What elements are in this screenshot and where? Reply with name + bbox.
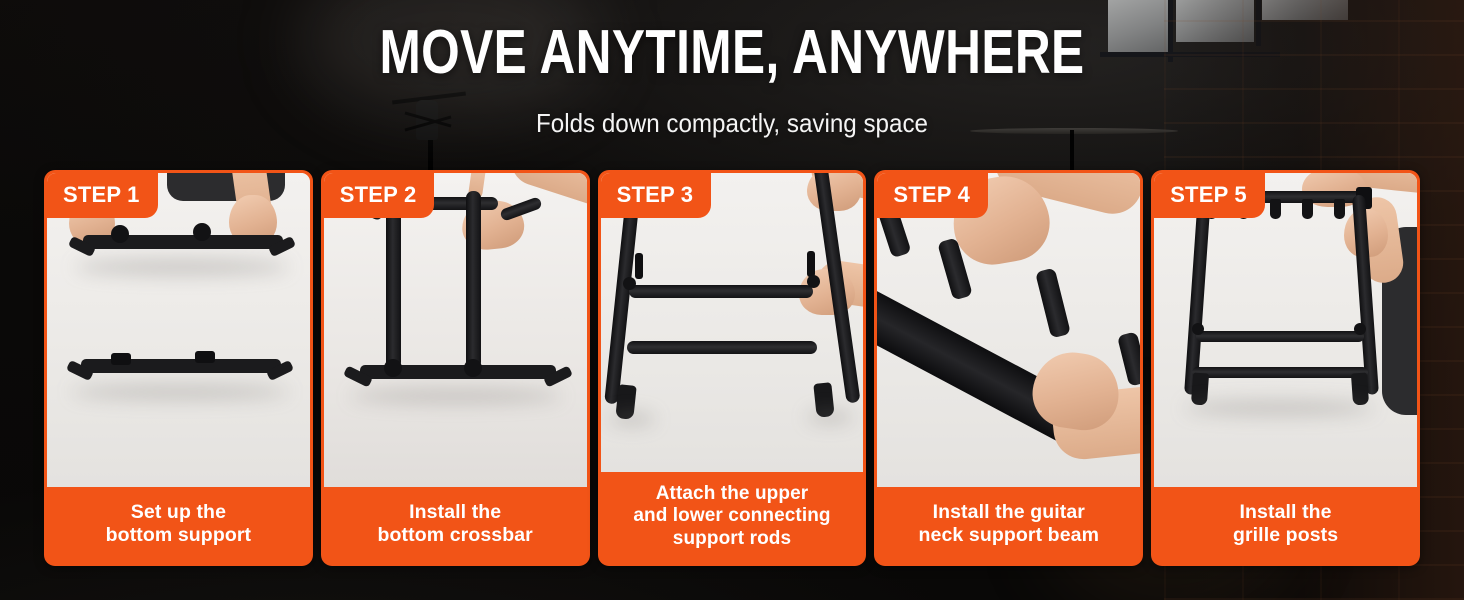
infographic-banner: MOVE ANYTIME, ANYWHERE Folds down compac… [0,0,1464,600]
bracket [195,351,215,363]
foot-right [1351,372,1369,405]
upper-rod-bracket-left [635,253,643,279]
step-badge-3: STEP 3 [601,173,712,218]
lower-connecting-rod [627,341,817,354]
pivot-knob [193,223,211,241]
caption-line: neck support beam [883,524,1134,547]
stand-shadow [1184,401,1374,415]
caption-line: Install the [1160,501,1411,524]
upper-rod-bracket-right [807,251,815,277]
step-badge-4: STEP 4 [877,173,988,218]
step-photo-4: STEP 4 [877,173,1140,487]
grille-post [1334,199,1345,219]
caption-line: support rods [605,528,860,550]
rod-pin [623,277,636,290]
upper-base-rail [1196,331,1364,342]
foot-shadow [609,413,655,425]
joint-knob [464,359,482,377]
step-card-5[interactable]: STEP 5 Install the grille posts [1151,170,1420,566]
page-title: MOVE ANYTIME, ANYWHERE [146,22,1317,84]
floor-surface [324,173,587,487]
step-caption-5: Install the grille posts [1154,487,1417,563]
foot-left [1191,372,1209,405]
step-photo-2: STEP 2 [324,173,587,487]
step-caption-2: Install the bottom crossbar [324,487,587,563]
caption-line: Install the guitar [883,501,1134,524]
upper-connecting-rod [629,285,813,298]
step-caption-4: Install the guitar neck support beam [877,487,1140,563]
caption-line: bottom crossbar [330,524,581,547]
bar-shadow [75,259,289,275]
step-badge-2: STEP 2 [324,173,435,218]
step-badge-5: STEP 5 [1154,173,1265,218]
step-photo-5: STEP 5 [1154,173,1417,487]
steps-row: STEP 1 Set up the bottom support [44,170,1420,566]
step-photo-1: STEP 1 [47,173,310,487]
step-photo-3: STEP 3 [601,173,864,472]
grille-post [1270,199,1281,219]
step-card-3[interactable]: STEP 3 Attach the upper and lower connec… [598,170,867,566]
bracket [111,353,131,365]
step-caption-3: Attach the upper and lower connecting su… [601,472,864,563]
foot-shadow [807,411,853,423]
step-card-1[interactable]: STEP 1 Set up the bottom support [44,170,313,566]
caption-line: and lower connecting [605,505,860,527]
left-post [386,193,401,369]
pivot-knob [111,225,129,243]
bar-shadow [71,385,289,399]
caption-line: Attach the upper [605,483,860,505]
page-subtitle: Folds down compactly, saving space [51,110,1413,136]
caption-line: bottom support [53,524,304,547]
step-card-4[interactable]: STEP 4 Install the guitar neck support b… [874,170,1143,566]
step-card-2[interactable]: STEP 2 Install the bottom crossbar [321,170,590,566]
grille-post [1302,199,1313,219]
caption-line: grille posts [1160,524,1411,547]
right-post [466,191,481,369]
joint-knob [384,359,402,377]
step-badge-1: STEP 1 [47,173,158,218]
base-shadow [350,389,562,403]
step-caption-1: Set up the bottom support [47,487,310,563]
caption-line: Install the [330,501,581,524]
caption-line: Set up the [53,501,304,524]
rod-pin [807,275,820,288]
lower-base-rail [1192,367,1368,378]
